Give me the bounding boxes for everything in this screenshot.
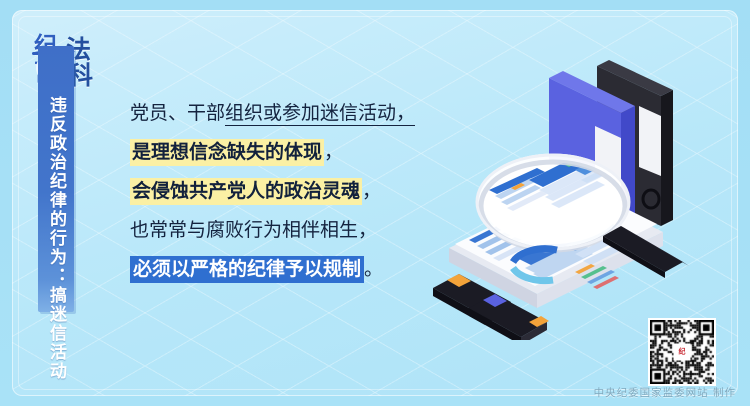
footer-credit: 中央纪委国家监委网站 制作: [594, 385, 736, 400]
copy-segment-underline: 组织或参加迷信活动，: [225, 102, 415, 126]
isometric-illustration: [425, 40, 725, 340]
copy-segment-plain: ，: [362, 180, 381, 202]
copy-segment-plain: 。: [364, 258, 383, 280]
main-copy: 党员、干部组织或参加迷信活动，是理想信念缺失的体现，会侵蚀共产党人的政治灵魂，也…: [130, 100, 450, 282]
copy-segment-plain: 党员、干部: [130, 102, 225, 124]
copy-line-4: 也常常与腐败行为相伴相生，: [130, 217, 450, 243]
vertical-title-banner: 违反政治纪律的行为：搞迷信活动: [38, 46, 74, 312]
copy-line-1: 党员、干部组织或参加迷信活动，: [130, 100, 450, 126]
copy-segment-highlight-blue: 必须以严格的纪律予以规制: [130, 256, 364, 283]
copy-line-5: 必须以严格的纪律予以规制。: [130, 256, 450, 282]
copy-line-2: 是理想信念缺失的体现，: [130, 139, 450, 165]
copy-segment-highlight-yellow: 会侵蚀共产党人的政治灵魂: [130, 178, 362, 205]
copy-segment-highlight-yellow: 是理想信念缺失的体现: [130, 139, 324, 166]
vertical-title-text: 违反政治纪律的行为：搞迷信活动: [38, 96, 74, 312]
qr-code[interactable]: 纪: [648, 318, 716, 386]
qr-center-badge: 纪: [674, 344, 691, 361]
copy-segment-plain: 也常常与腐败行为相伴相生，: [130, 219, 377, 241]
poster-canvas: 纪 法 百 科 违反政治纪律的行为：搞迷信活动 党员、干部组织或参加迷信活动，是…: [0, 0, 750, 406]
copy-line-3: 会侵蚀共产党人的政治灵魂，: [130, 178, 450, 204]
copy-segment-plain: ，: [324, 141, 343, 163]
